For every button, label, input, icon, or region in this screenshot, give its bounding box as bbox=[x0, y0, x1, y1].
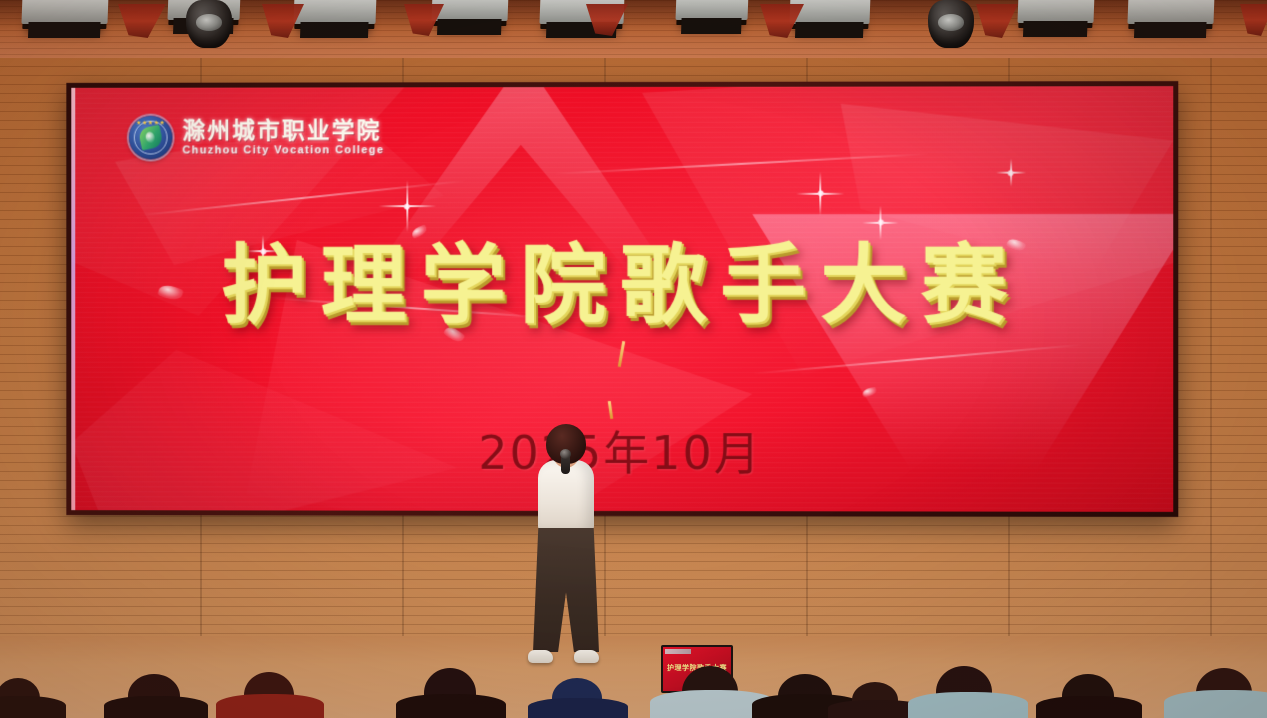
event-date: 2025年10月 bbox=[71, 417, 1173, 484]
moving-head-spotlight bbox=[186, 0, 232, 48]
college-emblem-icon: ★★★★★ bbox=[129, 116, 173, 160]
stage-photograph: ★★★★★ 滁州城市职业学院 Chuzhou City Vocation Col… bbox=[0, 0, 1267, 718]
stage-light-panel bbox=[1017, 0, 1094, 23]
led-screen-surface: ★★★★★ 滁州城市职业学院 Chuzhou City Vocation Col… bbox=[71, 86, 1173, 512]
stage-light-panel bbox=[789, 0, 870, 24]
microphone-icon bbox=[561, 454, 570, 474]
stage-light-panel bbox=[1127, 0, 1214, 24]
college-name-english: Chuzhou City Vocation College bbox=[182, 145, 384, 156]
event-title: 护理学院歌手大赛 bbox=[71, 215, 1173, 341]
stage-light-panel bbox=[293, 0, 376, 24]
stage-light-panel bbox=[676, 0, 749, 20]
audience-shoulders bbox=[0, 696, 66, 718]
college-name-chinese: 滁州城市职业学院 bbox=[182, 119, 384, 142]
audience-shoulders bbox=[1164, 690, 1267, 718]
led-content: ★★★★★ 滁州城市职业学院 Chuzhou City Vocation Col… bbox=[71, 86, 1173, 512]
audience-row bbox=[0, 620, 1267, 718]
spotlight-lens bbox=[196, 14, 222, 30]
college-logo-text: 滁州城市职业学院 Chuzhou City Vocation College bbox=[182, 119, 384, 156]
audience-shoulders bbox=[104, 696, 208, 718]
led-video-wall: ★★★★★ 滁州城市职业学院 Chuzhou City Vocation Col… bbox=[66, 81, 1178, 517]
spotlight-lens bbox=[938, 14, 964, 30]
stage-light-panel bbox=[432, 0, 509, 21]
ceiling-lighting-truss bbox=[0, 0, 1267, 58]
audience-shoulders bbox=[216, 694, 324, 718]
audience-shoulders bbox=[1036, 696, 1142, 718]
moving-head-spotlight bbox=[928, 0, 974, 48]
audience-shoulders bbox=[528, 698, 628, 718]
audience-shoulders bbox=[908, 692, 1028, 718]
college-logo: ★★★★★ 滁州城市职业学院 Chuzhou City Vocation Col… bbox=[129, 115, 385, 159]
stage-light-panel bbox=[21, 0, 108, 24]
audience-shoulders bbox=[396, 694, 506, 718]
